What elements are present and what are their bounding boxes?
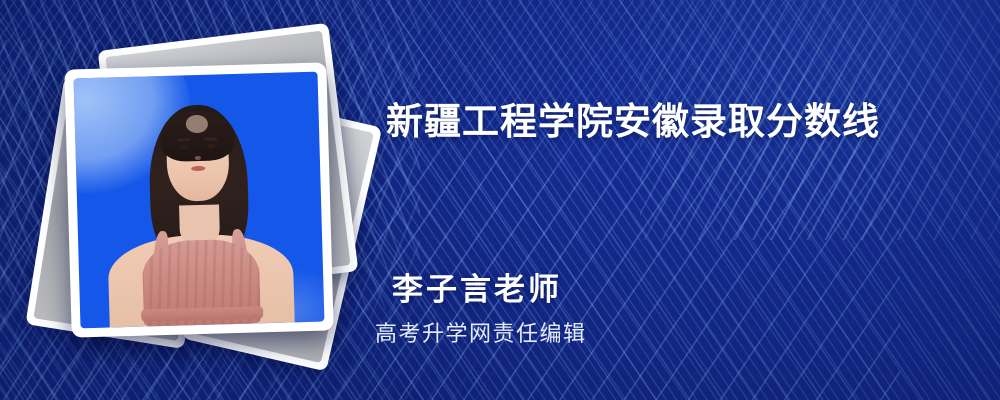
banner-text-column: 新疆工程学院安徽录取分数线 李子言老师 高考升学网责任编辑: [382, 0, 982, 400]
author-avatar: [74, 72, 325, 329]
photo-card-stack: [52, 36, 372, 346]
portrait-figure-icon: [74, 72, 325, 329]
article-header-banner: 新疆工程学院安徽录取分数线 李子言老师 高考升学网责任编辑: [0, 0, 1000, 400]
portrait-mouth: [191, 166, 205, 171]
portrait-eye-right: [207, 143, 216, 148]
author-photo-card: [64, 62, 333, 337]
portrait-nose: [195, 156, 201, 160]
portrait-eyebrow-right: [205, 137, 218, 140]
author-role: 高考升学网责任编辑: [375, 320, 587, 348]
page-title: 新疆工程学院安徽录取分数线: [386, 100, 880, 144]
author-name: 李子言老师: [392, 272, 562, 308]
portrait-eye-left: [179, 144, 188, 149]
portrait-hair-part: [186, 115, 209, 133]
